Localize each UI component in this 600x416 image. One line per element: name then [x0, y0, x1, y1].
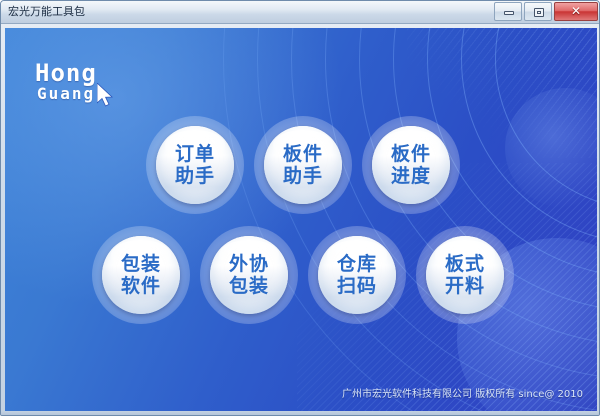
background-circle-right-upper: [505, 88, 597, 208]
app-button-panel-progress[interactable]: 板件进度: [362, 116, 460, 214]
window-bottom-edge: [1, 411, 600, 415]
button-label-line2: 开料: [445, 275, 485, 297]
button-label-line1: 板件: [283, 143, 323, 165]
button-label-line1: 外协: [229, 253, 269, 275]
button-label-line1: 包装: [121, 253, 161, 275]
button-label-line2: 助手: [283, 165, 323, 187]
button-label-line2: 进度: [391, 165, 431, 187]
close-icon: ✕: [555, 3, 597, 20]
button-label-line2: 扫码: [337, 275, 377, 297]
logo-text-guang: Guang: [37, 86, 95, 102]
app-button-packaging-software[interactable]: 包装软件: [92, 226, 190, 324]
button-face: 订单助手: [156, 126, 234, 204]
button-label-line1: 订单: [175, 143, 215, 165]
title-bar[interactable]: 宏光万能工具包 ✕: [1, 1, 600, 24]
button-label-line1: 仓库: [337, 253, 377, 275]
minimize-button[interactable]: [494, 2, 522, 21]
button-face: 外协包装: [210, 236, 288, 314]
app-button-panel-assistant[interactable]: 板件助手: [254, 116, 352, 214]
button-face: 板式开料: [426, 236, 504, 314]
logo-text-hong: Hong: [35, 61, 97, 85]
button-label-line1: 板式: [445, 253, 485, 275]
app-button-outsourced-packaging[interactable]: 外协包装: [200, 226, 298, 324]
button-label-line1: 板件: [391, 143, 431, 165]
footer-copyright: 广州市宏光软件科技有限公司 版权所有 since@ 2010: [342, 388, 583, 401]
button-label-line2: 软件: [121, 275, 161, 297]
app-button-panel-cutting[interactable]: 板式开料: [416, 226, 514, 324]
main-canvas: Hong Guang 订单助手板件助手板件进度包装软件外协包装仓库扫码板式开料 …: [5, 28, 597, 413]
button-face: 板件进度: [372, 126, 450, 204]
app-window: 宏光万能工具包 ✕ Hong Guang: [0, 0, 600, 416]
button-label-line2: 包装: [229, 275, 269, 297]
button-face: 包装软件: [102, 236, 180, 314]
window-title: 宏光万能工具包: [8, 5, 85, 19]
window-controls: ✕: [494, 2, 598, 21]
maximize-button[interactable]: [524, 2, 552, 21]
app-button-warehouse-scan[interactable]: 仓库扫码: [308, 226, 406, 324]
close-button[interactable]: ✕: [554, 2, 598, 21]
button-label-line2: 助手: [175, 165, 215, 187]
button-face: 板件助手: [264, 126, 342, 204]
minimize-icon: [504, 11, 514, 15]
app-button-order-assistant[interactable]: 订单助手: [146, 116, 244, 214]
maximize-icon: [534, 8, 544, 17]
brand-logo: Hong Guang: [35, 61, 155, 107]
button-face: 仓库扫码: [318, 236, 396, 314]
